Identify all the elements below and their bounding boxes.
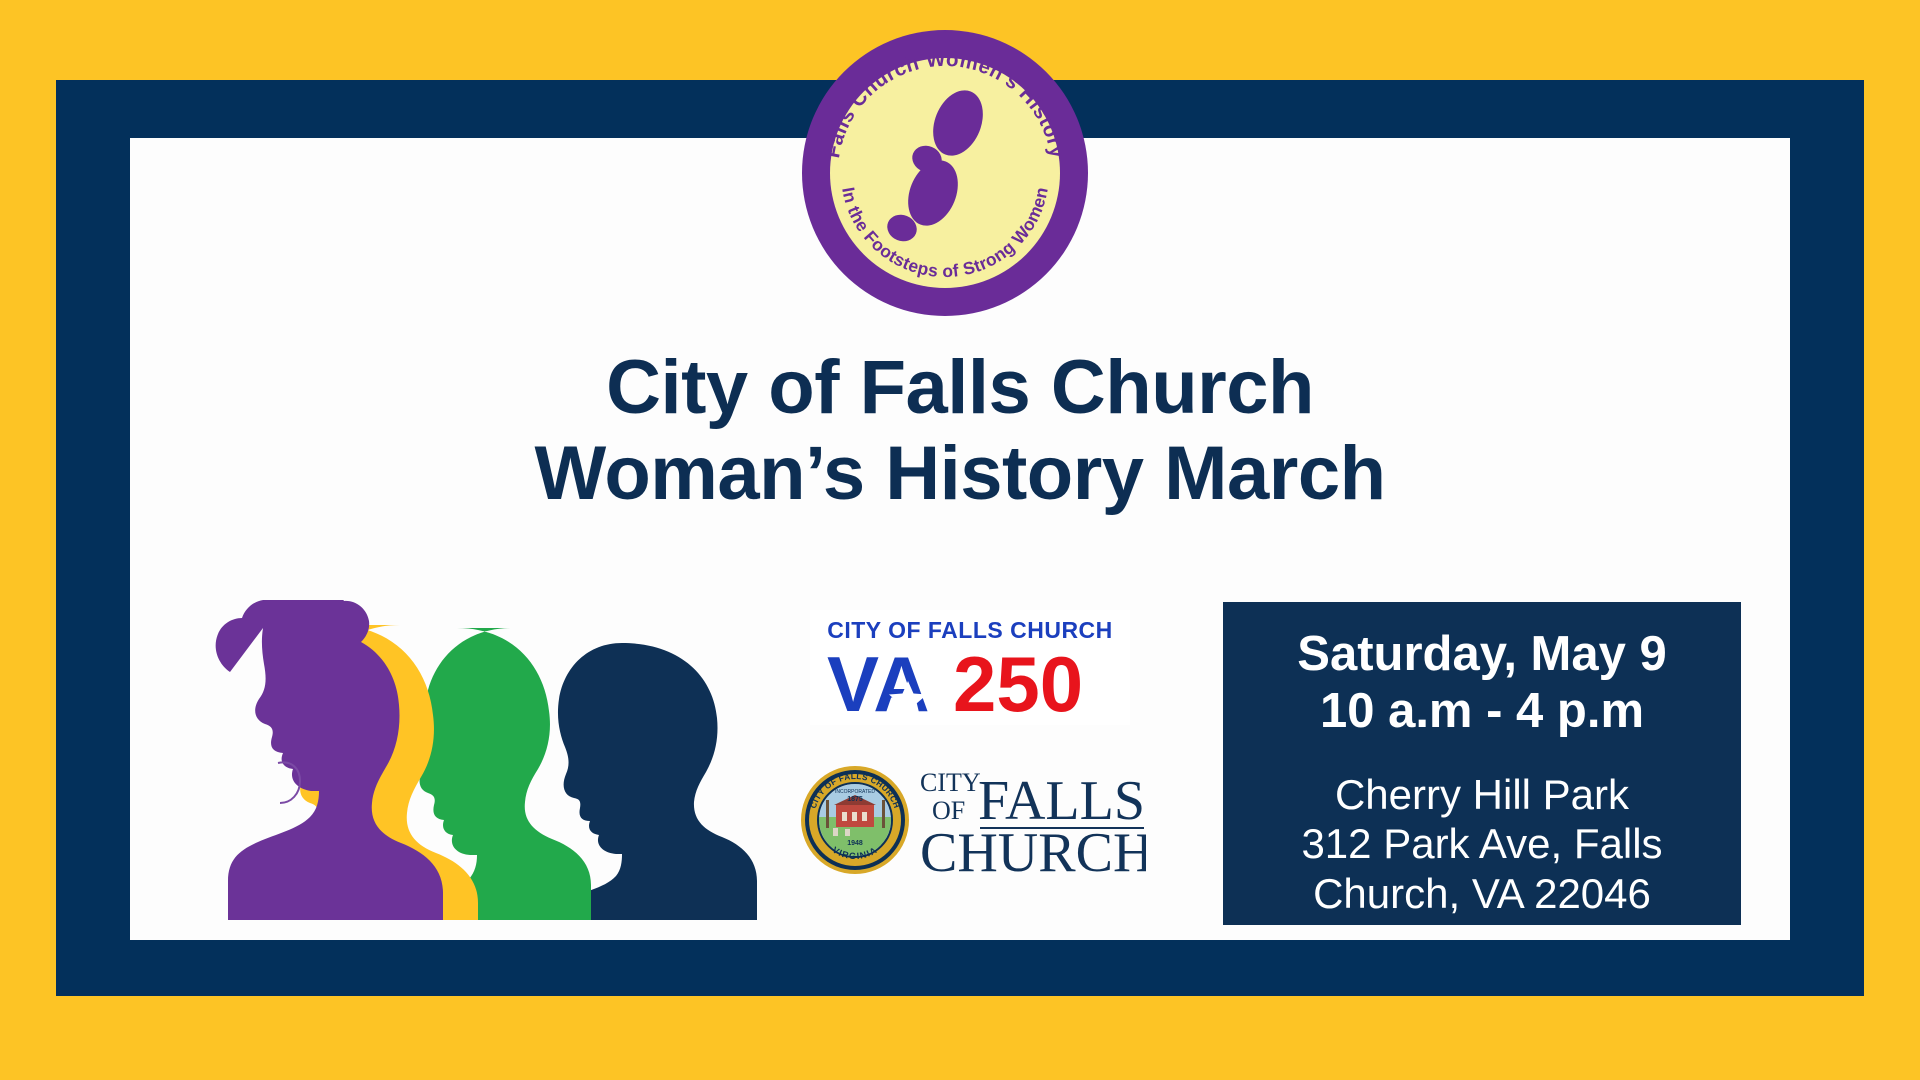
womens-history-badge: Falls Church Women's History In the Foot… xyxy=(800,28,1090,318)
va250-250-text: 250 xyxy=(953,643,1083,717)
partner-logos: CITY OF FALLS CHURCH VA 250 xyxy=(800,600,1150,930)
event-details-box: Saturday, May 9 10 a.m - 4 p.m Cherry Hi… xyxy=(1223,602,1741,925)
va250-mark: VA 250 xyxy=(825,643,1115,717)
va250-logo: CITY OF FALLS CHURCH VA 250 xyxy=(810,610,1130,725)
title-line-1: City of Falls Church xyxy=(130,345,1790,431)
event-where: Cherry Hill Park 312 Park Ave, Falls Chu… xyxy=(1223,770,1741,919)
city-of-falls-church-wordmark: CITY OF FALLS CHURCH xyxy=(918,761,1146,879)
seal-incorporated-label: INCORPORATED xyxy=(835,789,875,795)
event-time: 10 a.m - 4 p.m xyxy=(1223,683,1741,740)
event-date: Saturday, May 9 xyxy=(1223,626,1741,683)
city-of-falls-church-logo: INCORPORATED 1875 1948 CITY OF FALLS CHU… xyxy=(800,755,1150,885)
event-address-line-1: 312 Park Ave, Falls xyxy=(1223,819,1741,869)
event-when: Saturday, May 9 10 a.m - 4 p.m xyxy=(1223,626,1741,740)
seal-secondary-year: 1948 xyxy=(847,840,863,847)
event-venue: Cherry Hill Park xyxy=(1223,770,1741,820)
wordmark-city: CITY xyxy=(920,768,981,797)
title-line-2: Woman’s History March xyxy=(130,431,1790,517)
event-address-line-2: Church, VA 22046 xyxy=(1223,869,1741,919)
women-silhouettes-graphic xyxy=(160,600,760,920)
seal-incorporated-year: 1875 xyxy=(847,796,863,803)
wordmark-church: CHURCH xyxy=(920,822,1146,879)
va250-top-line: CITY OF FALLS CHURCH xyxy=(827,619,1113,642)
wordmark-of: OF xyxy=(932,796,965,825)
city-seal-icon: INCORPORATED 1875 1948 CITY OF FALLS CHU… xyxy=(800,765,910,875)
flyer-canvas: Falls Church Women's History In the Foot… xyxy=(0,0,1920,1080)
page-title: City of Falls Church Woman’s History Mar… xyxy=(130,345,1790,517)
